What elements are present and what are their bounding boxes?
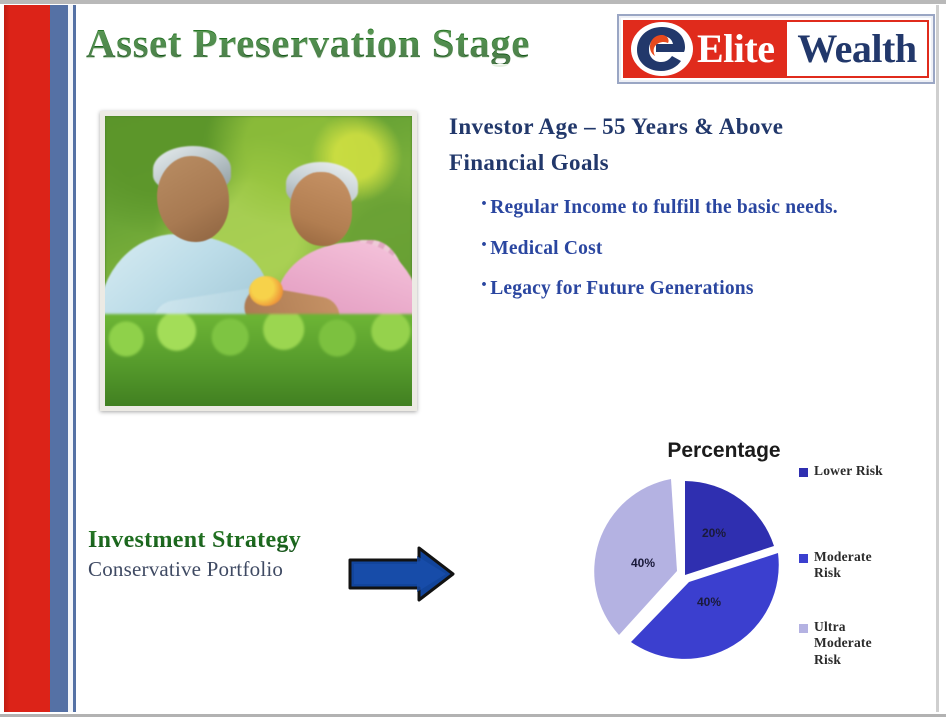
slide-canvas: Asset Preservation Stage Elite Wealth [0, 0, 946, 720]
pie-label-lower-risk: 20% [702, 526, 726, 540]
legend-item-moderate-risk: Moderate Risk [799, 549, 921, 619]
left-accent-line [73, 5, 76, 712]
logo-word-wealth: Wealth [797, 29, 916, 69]
elite-e-swirl-icon [629, 21, 695, 77]
left-red-band [4, 5, 50, 712]
slide-bottom-border [0, 714, 946, 717]
logo-inner-panel: Elite Wealth [621, 18, 931, 80]
photo-woman-head [290, 172, 352, 246]
percentage-pie-chart: Percentage 20% 40% 4 [481, 425, 921, 695]
legend-swatch-icon [799, 468, 808, 477]
investor-age-heading: Investor Age – 55 Years & Above [449, 109, 919, 145]
photo-man-head [157, 156, 229, 242]
investor-info-block: Investor Age – 55 Years & Above Financia… [449, 109, 919, 311]
elite-wealth-logo: Elite Wealth [617, 14, 935, 84]
legend-label: Ultra Moderate Risk [814, 619, 872, 668]
investment-strategy-block: Investment Strategy Conservative Portfol… [88, 526, 358, 582]
right-arrow-icon [347, 544, 457, 604]
photo-hedge [105, 314, 412, 406]
list-item: Regular Income to fulfill the basic need… [480, 189, 919, 221]
elderly-couple-photo [100, 111, 417, 411]
list-item: Legacy for Future Generations [480, 270, 919, 302]
legend-label: Lower Risk [814, 463, 883, 479]
legend-swatch-icon [799, 554, 808, 563]
pie-graphic: 20% 40% 40% [581, 475, 781, 675]
legend-item-ultra-moderate-risk: Ultra Moderate Risk [799, 619, 921, 668]
pie-label-moderate-risk: 40% [697, 595, 721, 609]
slide-content-area: Asset Preservation Stage Elite Wealth [81, 5, 936, 712]
legend-label: Moderate Risk [814, 549, 876, 582]
investment-strategy-subtitle: Conservative Portfolio [88, 557, 358, 582]
photo-flower [249, 276, 283, 306]
pie-label-ultra-moderate-risk: 40% [631, 556, 655, 570]
chart-legend: Lower Risk Moderate Risk Ultra Moderate … [799, 463, 921, 668]
financial-goals-list: Regular Income to fulfill the basic need… [449, 189, 919, 302]
list-item: Medical Cost [480, 230, 919, 262]
chart-title: Percentage [609, 439, 839, 463]
logo-word-elite: Elite [697, 29, 774, 69]
logo-wealth-box: Wealth [787, 22, 927, 76]
investment-strategy-title: Investment Strategy [88, 526, 358, 555]
left-blue-band [50, 5, 68, 712]
photo-canvas [105, 116, 412, 406]
slide-top-border [0, 0, 946, 4]
page-title: Asset Preservation Stage [86, 23, 606, 64]
legend-item-lower-risk: Lower Risk [799, 463, 921, 549]
legend-swatch-icon [799, 624, 808, 633]
content-right-edge [936, 5, 939, 712]
financial-goals-heading: Financial Goals [449, 145, 919, 181]
